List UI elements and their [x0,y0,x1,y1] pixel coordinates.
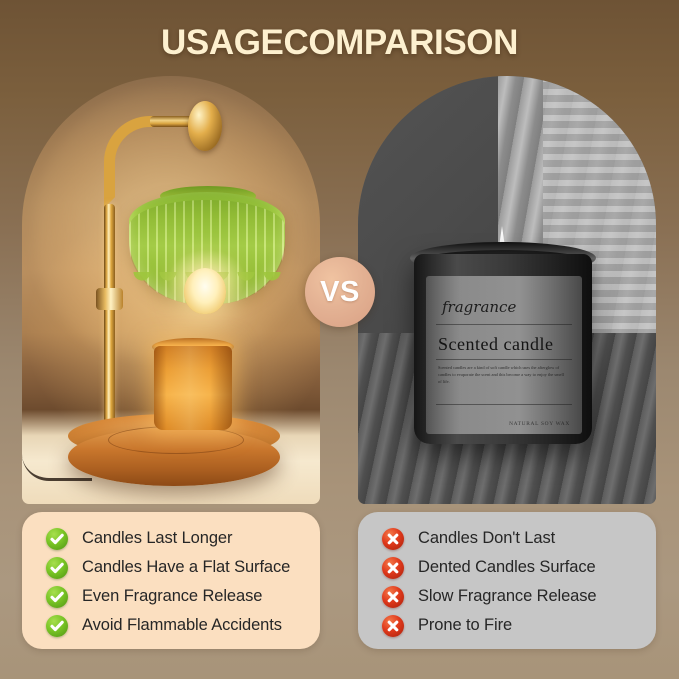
list-item: Even Fragrance Release [22,583,320,610]
list-item-label: Slow Fragrance Release [418,587,596,606]
list-item: Candles Last Longer [22,525,320,552]
list-item: Candles Don't Last [358,525,656,552]
check-circle-icon [46,586,68,608]
label-divider-2 [436,359,572,360]
list-item-label: Prone to Fire [418,616,512,635]
list-item: Dented Candles Surface [358,554,656,581]
label-product-title: Scented candle [438,334,553,355]
x-circle-icon [382,557,404,579]
check-circle-icon [46,557,68,579]
list-item-label: Dented Candles Surface [418,558,596,577]
candle-product-label: fragrance Scented candle Scented candles… [426,276,582,434]
list-item-label: Even Fragrance Release [82,587,262,606]
list-item: Candles Have a Flat Surface [22,554,320,581]
vs-badge: VS [305,257,375,327]
label-divider-1 [436,324,572,325]
list-item: Slow Fragrance Release [358,583,656,610]
list-item-label: Candles Don't Last [418,529,555,548]
vs-label: VS [320,276,360,309]
x-circle-icon [382,586,404,608]
label-brand-script: fragrance [442,298,516,316]
lamp-height-collar [96,288,123,310]
label-description: Scented candles are a kind of soft candl… [438,364,564,385]
page-title: USAGECOMPARISON [0,23,679,63]
left-product-photo [22,76,320,504]
check-circle-icon [46,615,68,637]
list-item-label: Candles Last Longer [82,529,232,548]
pros-card: Candles Last Longer Candles Have a Flat … [22,512,320,649]
lamp-finial-knob [188,101,222,151]
list-item-label: Candles Have a Flat Surface [82,558,290,577]
list-item: Prone to Fire [358,612,656,639]
right-product-photo: fragrance Scented candle Scented candles… [358,76,656,504]
x-circle-icon [382,528,404,550]
label-footer-text: NATURAL SOY WAX [509,421,570,427]
comparison-infographic: USAGECOMPARISON fragrance [0,0,679,679]
amber-candle-jar [154,346,232,430]
x-circle-icon [382,615,404,637]
list-item: Avoid Flammable Accidents [22,612,320,639]
check-circle-icon [46,528,68,550]
light-bulb [184,268,226,314]
lamp-post [104,204,115,436]
list-item-label: Avoid Flammable Accidents [82,616,282,635]
cons-card: Candles Don't Last Dented Candles Surfac… [358,512,656,649]
label-divider-3 [436,404,572,405]
wooden-base-ring [108,426,244,454]
